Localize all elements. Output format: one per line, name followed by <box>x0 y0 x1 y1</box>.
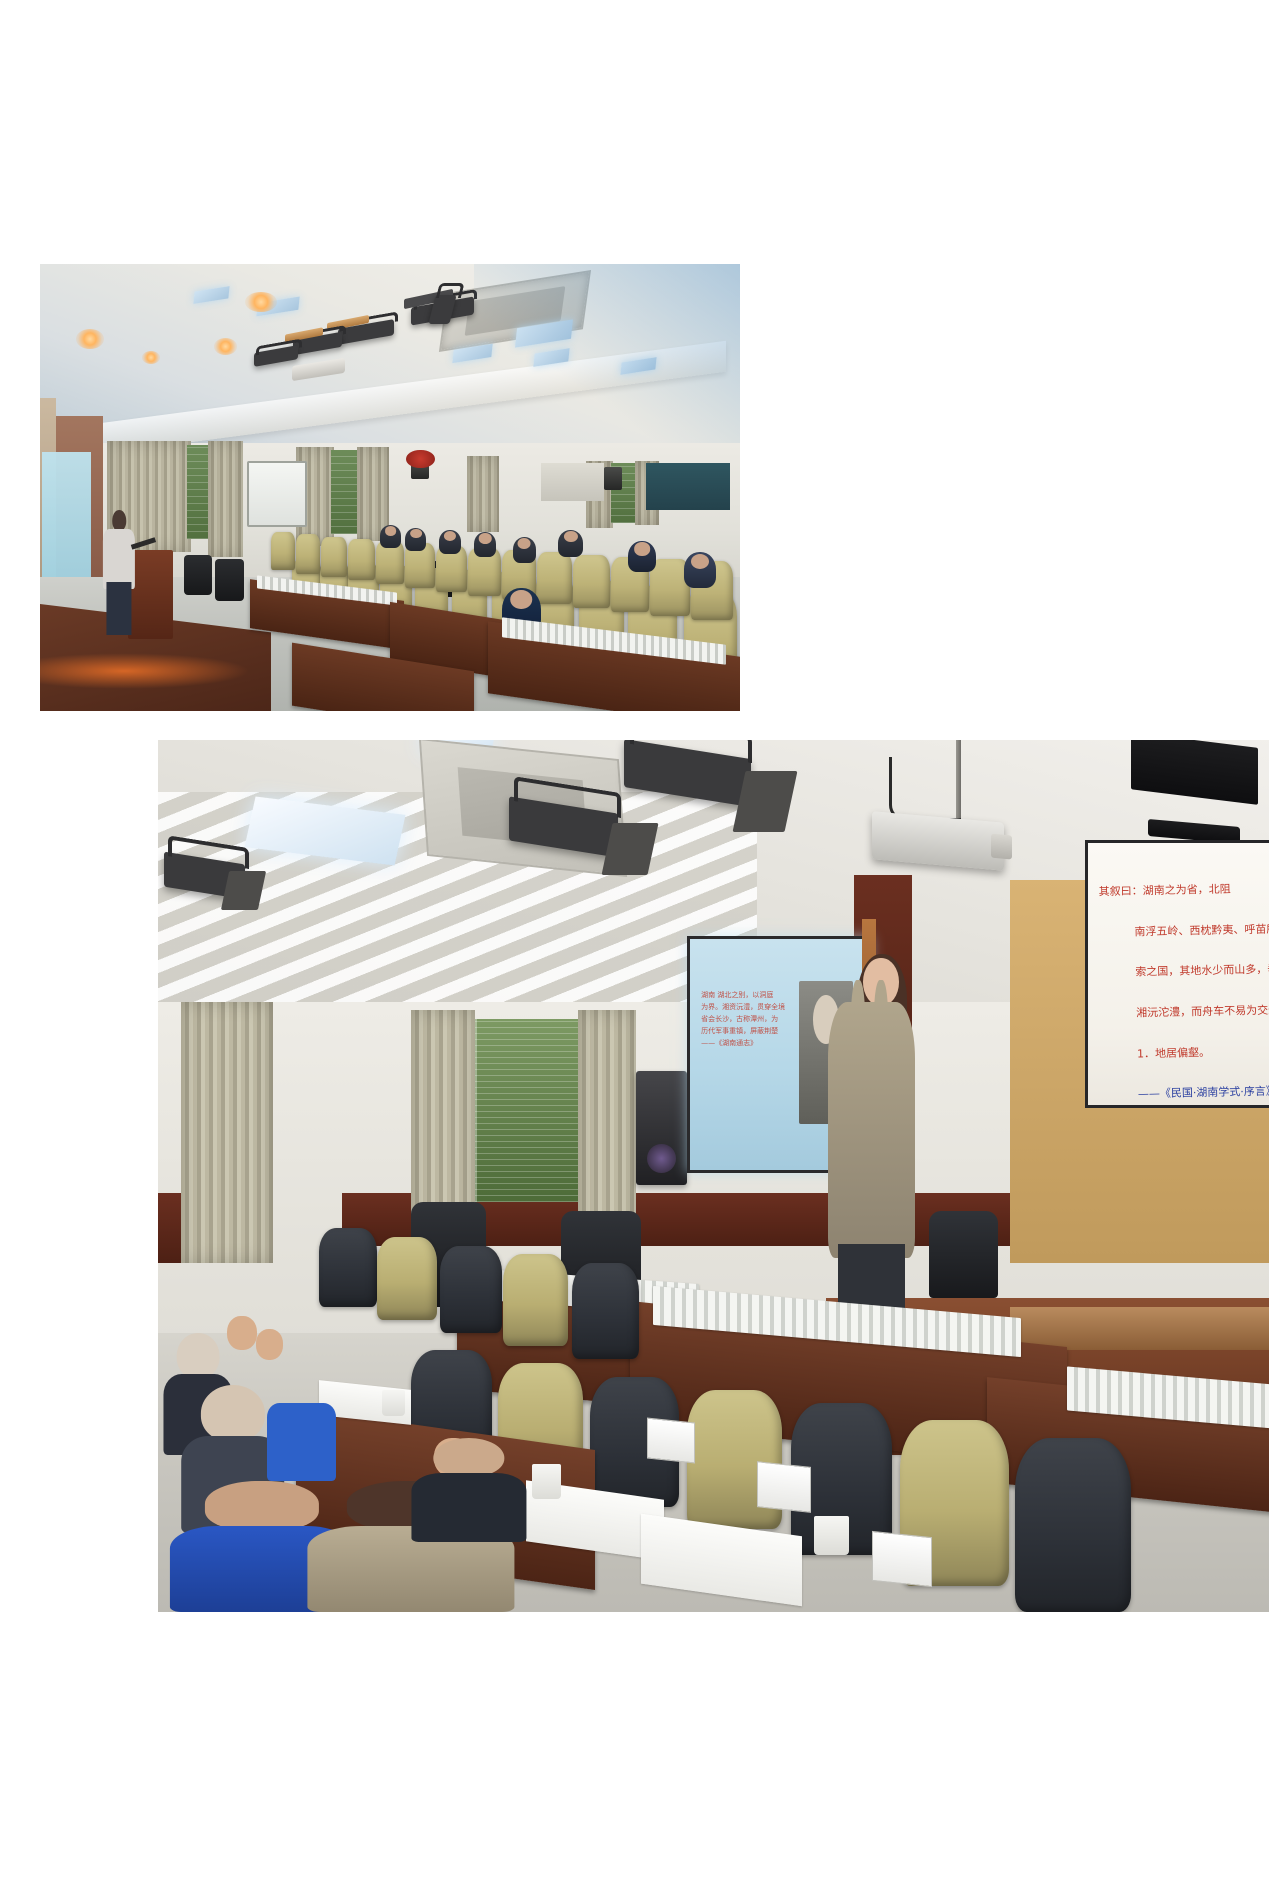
document-page: Lecture hall with speaker at podium addr… <box>0 0 1269 1903</box>
slide-right-citation: ——《民国·湖南学式·序言》 <box>1138 1085 1269 1101</box>
auditorium-seat <box>573 555 609 609</box>
person-head <box>433 1438 504 1478</box>
slide-right-text: 其叙曰：湖南之为省，北阻 南浮五岭、西枕黔夷、呼苗所 索之国，其地水少而山多，垂… <box>1099 878 1269 1108</box>
slide-left-text: 湖南 湖北之别，以洞庭 为界。湘资沅澧，贯穿全境 省会长沙，古称潭州，为 历代军… <box>701 990 787 1049</box>
slide-right-line-3: 索之国，其地水少而山多，垂 <box>1136 963 1269 979</box>
projection-screen-right: 其叙曰：湖南之为省，北阻 南浮五岭、西枕黔夷、呼苗所 索之国，其地水少而山多，垂… <box>1085 840 1269 1108</box>
auditorium-seat <box>440 1246 502 1333</box>
person-head <box>177 1333 220 1379</box>
photo-2-scene: 湖南 湖北之别，以洞庭 为界。湘资沅澧，贯穿全境 省会长沙，古称潭州，为 历代军… <box>158 740 1269 1612</box>
auditorium-seat <box>1015 1438 1130 1612</box>
speaker-legs <box>107 582 132 635</box>
paper-cup <box>382 1390 405 1416</box>
green-chalkboard <box>646 463 730 510</box>
presenter-person <box>820 958 924 1324</box>
projection-screen <box>42 452 91 591</box>
person-head <box>204 1481 318 1531</box>
photo-1-scene <box>40 264 740 711</box>
person-head <box>201 1385 265 1441</box>
attendee <box>628 541 656 572</box>
photo-presenter-and-audience: 湖南 湖北之别，以洞庭 为界。湘资沅澧，贯穿全境 省会长沙，古称潭州，为 历代军… <box>158 740 1269 1612</box>
slide-right-line-4: 湘沅沱澧，而舟车不易为交通 <box>1136 1003 1269 1019</box>
speaker-torso <box>103 529 135 589</box>
slide-right-line-1: 其叙曰：湖南之为省，北阻 <box>1099 882 1231 898</box>
clapping-hand <box>256 1329 284 1360</box>
speaker-person <box>103 510 135 635</box>
slide-right-line-5: 1．地居偏壑。 <box>1137 1046 1210 1061</box>
auditorium-seat <box>319 1228 377 1306</box>
attendee <box>474 532 496 557</box>
paper-cup <box>532 1464 561 1499</box>
stage-edge <box>1010 1307 1269 1351</box>
auditorium-seat <box>377 1237 437 1320</box>
office-chair <box>929 1211 998 1298</box>
attendee <box>380 525 401 547</box>
attendee <box>513 537 536 563</box>
auditorium-seat <box>503 1254 567 1346</box>
person-torso <box>411 1473 526 1542</box>
projector-cable <box>889 757 961 821</box>
stage-light-reflection <box>40 653 250 689</box>
name-plate <box>647 1418 695 1464</box>
audience-person-blue-jacket <box>267 1403 336 1481</box>
presenter-coat <box>828 1002 915 1258</box>
slide-right-line-2: 南浮五岭、西枕黔夷、呼苗所 <box>1135 922 1269 938</box>
ceiling-spot-lamp <box>214 338 238 355</box>
audience-person-right <box>411 1438 526 1543</box>
window-curtain <box>181 1002 273 1264</box>
attendee <box>405 528 426 551</box>
window-curtain <box>467 456 499 532</box>
name-plate <box>757 1461 811 1512</box>
name-plate <box>872 1530 932 1586</box>
auditorium-seat <box>296 534 321 573</box>
attendee <box>684 552 716 588</box>
window-curtain <box>208 441 243 557</box>
paper-cup <box>814 1516 849 1555</box>
photo-lecture-hall-speaker: Lecture hall with speaker at podium addr… <box>40 264 740 711</box>
attendee <box>439 530 461 554</box>
office-chair <box>215 559 244 601</box>
window <box>475 1019 584 1202</box>
auditorium-seat <box>572 1263 639 1359</box>
wall-notice-board <box>541 463 604 501</box>
window <box>331 450 360 535</box>
ceiling-spot-lamp <box>142 351 160 364</box>
auditorium-seat <box>537 552 572 604</box>
auditorium-seat <box>271 532 295 570</box>
auditorium-seat <box>687 1390 781 1530</box>
whiteboard <box>247 461 307 528</box>
projector-lens-icon <box>991 833 1012 860</box>
office-chair <box>184 555 212 595</box>
attendee <box>558 530 583 557</box>
wall-speaker <box>604 467 622 489</box>
floor-speaker <box>636 1071 688 1184</box>
clapping-hand <box>227 1316 257 1351</box>
auditorium-seat <box>321 537 346 577</box>
auditorium-seat <box>348 539 375 581</box>
